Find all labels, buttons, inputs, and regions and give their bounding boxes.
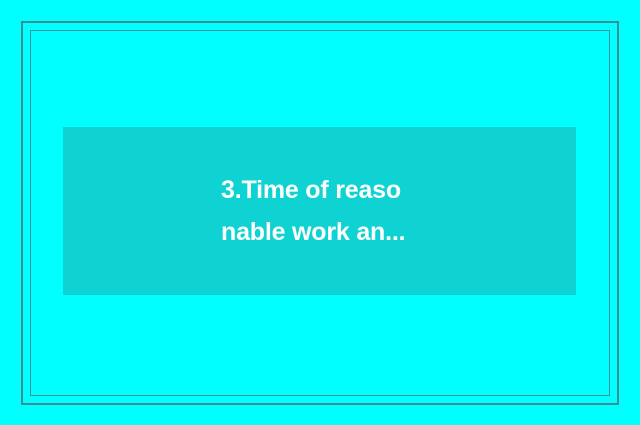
panel-text-line-2: nable work an...: [221, 211, 405, 253]
panel-text-line-1: 3.Time of reaso: [221, 169, 401, 211]
content-panel: 3.Time of reaso nable work an...: [63, 127, 576, 295]
slide-canvas: 3.Time of reaso nable work an...: [0, 0, 640, 425]
